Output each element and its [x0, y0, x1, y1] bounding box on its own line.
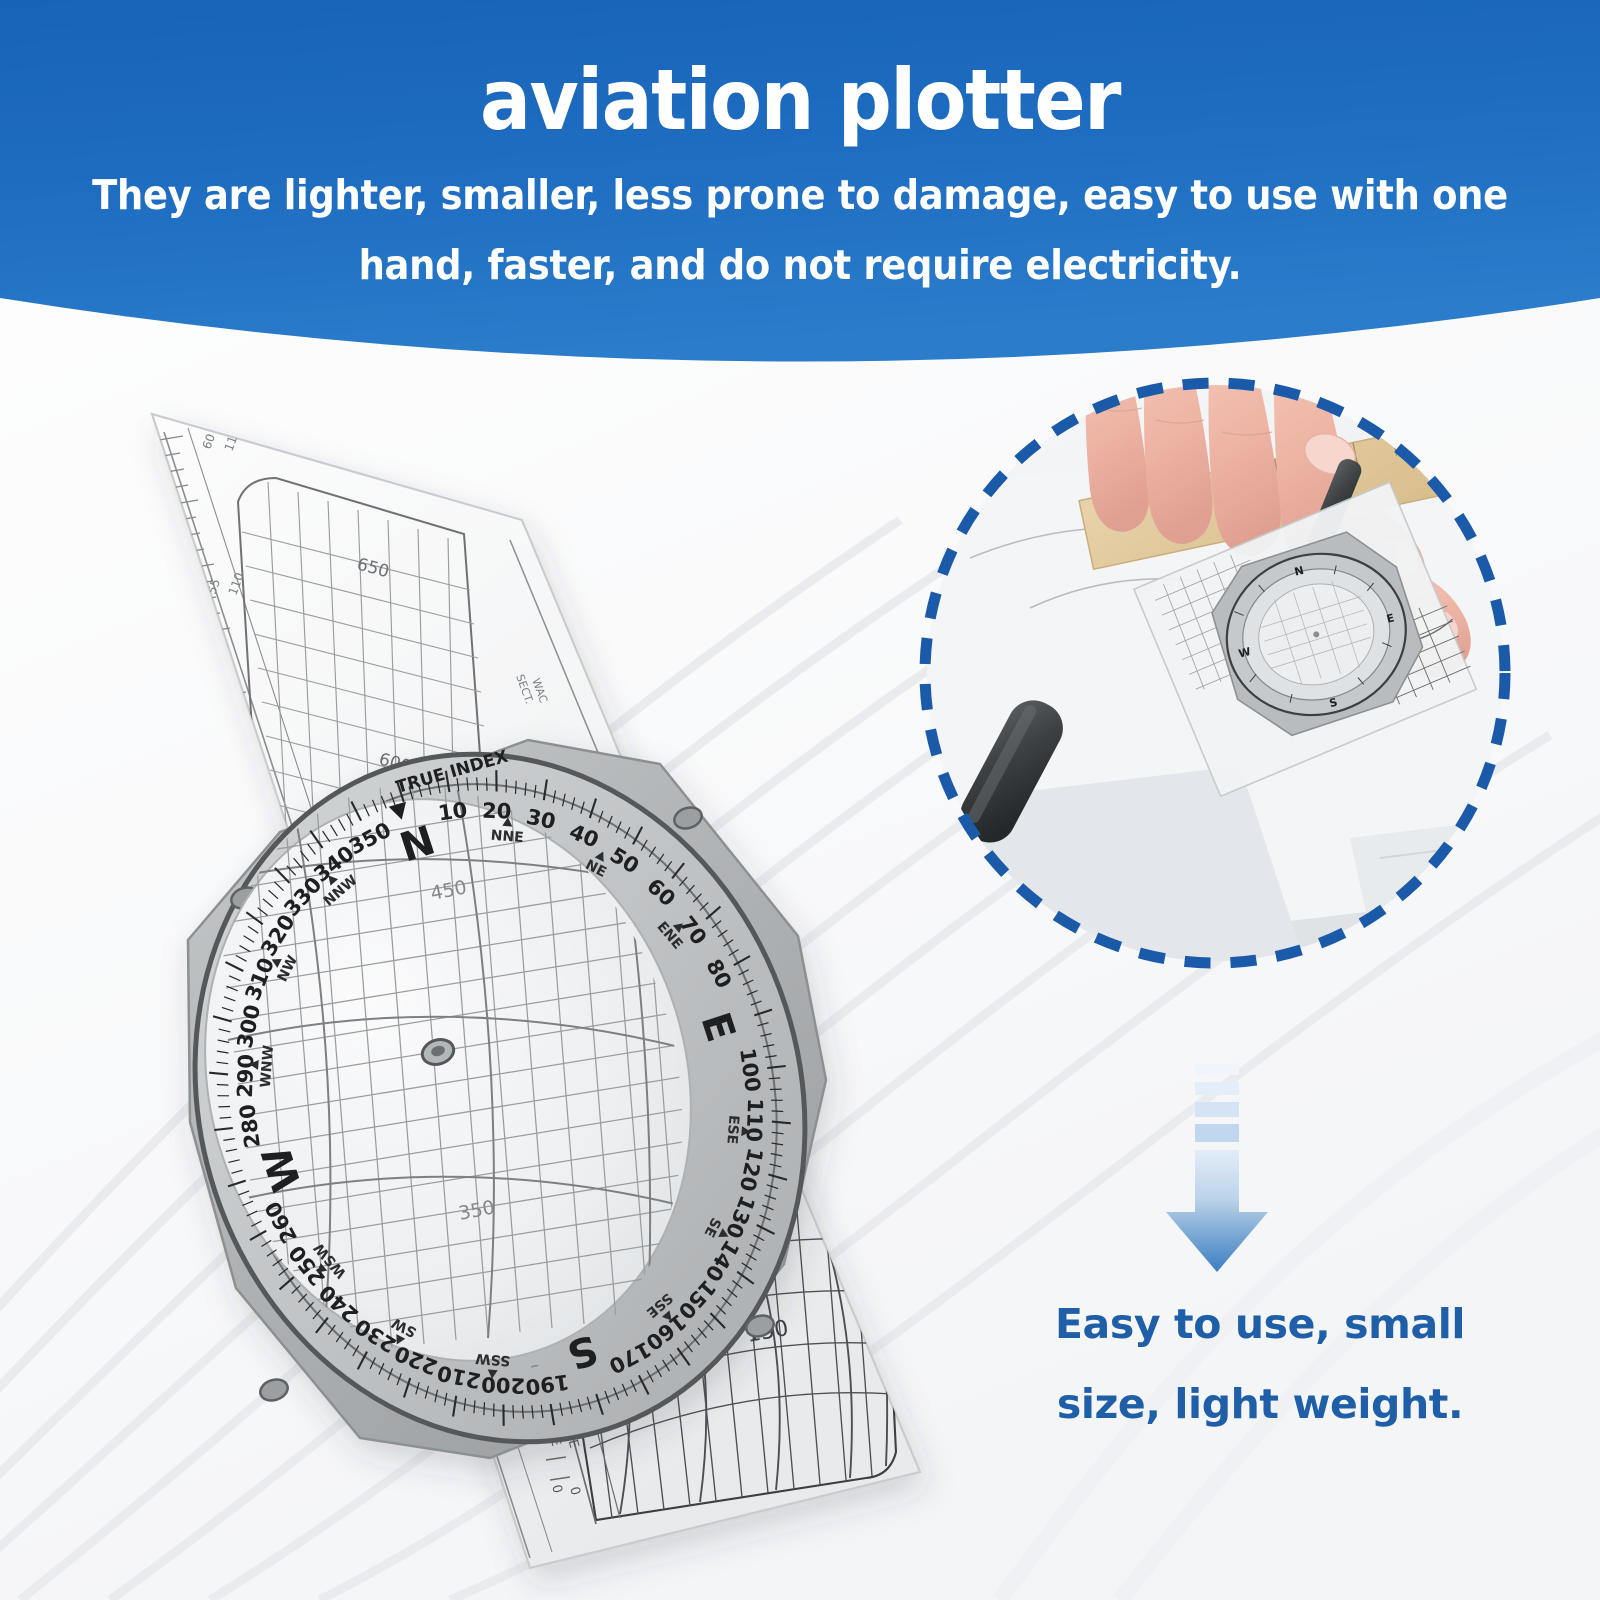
svg-text:90: 90 [862, 1064, 881, 1084]
banner-subtitle: They are lighter, smaller, less prone to… [80, 160, 1520, 301]
svg-text:20: 20 [845, 1221, 873, 1247]
svg-text:290: 290 [233, 1054, 259, 1099]
page-title: aviation plotter [480, 58, 1120, 144]
svg-text:50: 50 [213, 752, 231, 771]
product-photo: 650 600 60 110 55 110 50 100 SECT. WAC [60, 380, 960, 1600]
svg-text:10: 10 [437, 798, 469, 826]
svg-text:45: 45 [878, 1062, 897, 1082]
header-banner: aviation plotter They are lighter, small… [0, 0, 1600, 400]
lifestyle-photo: N E S W [910, 368, 1520, 978]
svg-text:50: 50 [898, 1238, 917, 1258]
feature-caption: Easy to use, small size, light weight. [1000, 1285, 1520, 1445]
svg-text:100: 100 [232, 747, 253, 773]
svg-text:ESE: ESE [723, 1114, 741, 1144]
svg-text:200: 200 [481, 1372, 526, 1398]
svg-text:WNW: WNW [258, 1045, 277, 1089]
down-arrow-gradient-icon [1152, 1060, 1282, 1275]
lifestyle-inset: N E S W [910, 368, 1520, 978]
svg-text:SSW: SSW [475, 1350, 511, 1369]
svg-text:100: 100 [880, 1240, 900, 1269]
svg-text:110: 110 [742, 1098, 768, 1143]
svg-text:NNE: NNE [490, 828, 524, 847]
